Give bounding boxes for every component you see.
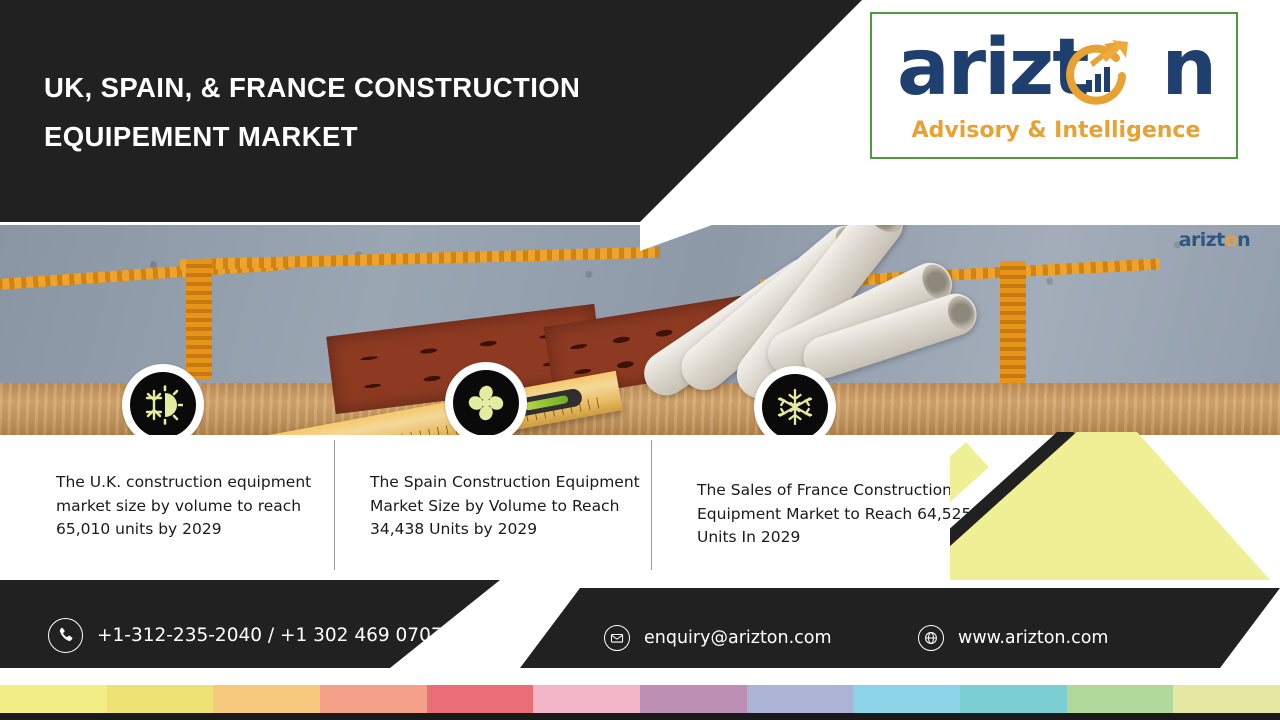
color-swatch-9 — [960, 685, 1067, 713]
watermark-text-right: n — [1237, 229, 1250, 251]
infographic-poster: UK, SPAIN, & FRANCE CONSTRUCTION EQUIPEM… — [0, 0, 1280, 720]
header: UK, SPAIN, & FRANCE CONSTRUCTION EQUIPEM… — [0, 0, 1280, 225]
color-swatch-1 — [107, 685, 214, 713]
phone-number: +1-312-235-2040 / +1 302 469 0707 — [97, 625, 443, 646]
color-swatch-3 — [320, 685, 427, 713]
stat-divider — [651, 440, 652, 570]
watermark-text-o: o — [1225, 229, 1237, 251]
badge-circle — [130, 372, 196, 438]
stat-card-spain: The Spain Construction Equipment Market … — [370, 471, 644, 542]
email-address: enquiry@arizton.com — [644, 628, 832, 648]
stat-card-france: The Sales of France Construction Equipme… — [697, 479, 987, 550]
color-swatch-8 — [853, 685, 960, 713]
logo-tagline: Advisory & Intelligence — [872, 118, 1240, 143]
color-swatch-7 — [747, 685, 854, 713]
color-swatch-11 — [1173, 685, 1280, 713]
badge-circle — [762, 374, 828, 440]
crane-mast-icon — [186, 259, 212, 379]
color-swatch-6 — [640, 685, 747, 713]
watermark-text-left: arizt — [1179, 229, 1225, 251]
sun-snowflake-icon — [143, 385, 183, 425]
color-swatch-2 — [213, 685, 320, 713]
page-title: UK, SPAIN, & FRANCE CONSTRUCTION EQUIPEM… — [44, 64, 664, 162]
crane-mast-icon — [1000, 261, 1026, 391]
strip-base-bar — [0, 713, 1280, 720]
fan-icon — [467, 384, 505, 422]
color-swatch-4 — [427, 685, 534, 713]
badge-climate-control — [122, 364, 204, 446]
color-swatch-0 — [0, 685, 107, 713]
contact-website[interactable]: www.arizton.com — [918, 625, 1108, 651]
color-swatch-5 — [533, 685, 640, 713]
logo-text-right: n — [1162, 29, 1216, 107]
logo-text-left: arizt — [897, 29, 1088, 107]
contact-phone[interactable]: +1-312-235-2040 / +1 302 469 0707 — [48, 618, 443, 653]
snowflake-icon — [776, 388, 814, 426]
arizton-logo: arizt n Advisory & Intelligence — [870, 12, 1238, 159]
website-url: www.arizton.com — [958, 628, 1108, 648]
stat-divider — [334, 440, 335, 570]
badge-ventilation — [445, 362, 527, 444]
badge-circle — [453, 370, 519, 436]
color-strip — [0, 685, 1280, 713]
globe-icon — [918, 625, 944, 651]
hero-watermark-logo: arizton — [1179, 229, 1250, 251]
logo-wordmark: arizt n — [872, 22, 1240, 114]
contact-email[interactable]: enquiry@arizton.com — [604, 625, 832, 651]
logo-text-row: arizt n — [872, 22, 1240, 114]
envelope-icon — [604, 625, 630, 651]
logo-o-mark-icon — [1060, 36, 1132, 108]
phone-icon — [48, 618, 83, 653]
stat-card-uk: The U.K. construction equipment market s… — [56, 471, 328, 542]
color-swatch-10 — [1067, 685, 1174, 713]
